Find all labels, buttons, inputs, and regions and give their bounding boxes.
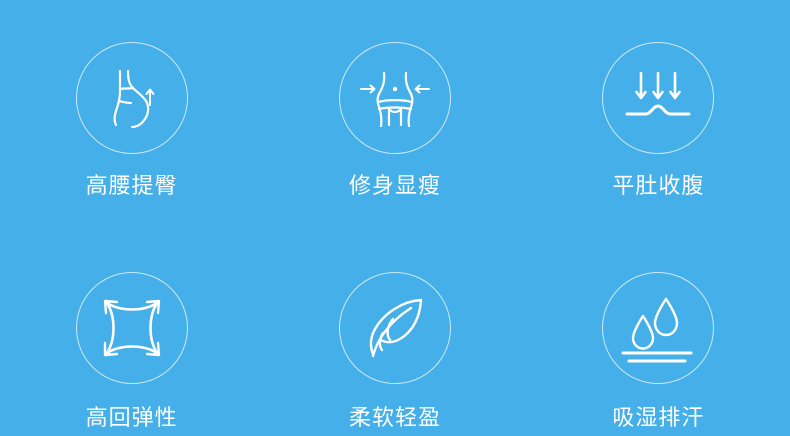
water-drops-icon xyxy=(619,291,697,365)
feature-label: 高腰提臀 xyxy=(86,173,178,199)
feature-card-flat-tummy[interactable]: 平肚收腹 xyxy=(527,0,790,218)
feature-banner: 高腰提臀 xyxy=(0,0,790,436)
down-arrows-flat-belly-icon xyxy=(622,65,694,131)
feature-card-moisture-wicking[interactable]: 吸湿排汗 xyxy=(527,218,790,436)
feature-label: 平肚收腹 xyxy=(612,173,704,199)
feature-icon-circle xyxy=(602,42,714,154)
four-way-stretch-icon xyxy=(96,292,168,364)
feature-card-high-elasticity[interactable]: 高回弹性 xyxy=(0,218,263,436)
feature-icon-circle xyxy=(339,42,451,154)
buttocks-lift-icon xyxy=(95,61,169,135)
feature-icon-circle xyxy=(76,42,188,154)
feature-icon-circle xyxy=(602,272,714,384)
feature-label: 柔软轻盈 xyxy=(349,405,441,431)
feature-label: 吸湿排汗 xyxy=(612,405,704,431)
feature-card-soft-light[interactable]: 柔软轻盈 xyxy=(263,218,526,436)
feature-label: 高回弹性 xyxy=(86,405,178,431)
feature-card-high-waist-hip-lift[interactable]: 高腰提臀 xyxy=(0,0,263,218)
feature-label: 修身显瘦 xyxy=(349,173,441,199)
feature-card-slimming-fit[interactable]: 修身显瘦 xyxy=(263,0,526,218)
feature-icon-circle xyxy=(339,272,451,384)
feature-icon-circle xyxy=(76,272,188,384)
feature-grid: 高腰提臀 xyxy=(0,0,790,436)
feather-icon xyxy=(359,292,431,364)
waist-slimming-arrows-icon xyxy=(356,61,434,135)
